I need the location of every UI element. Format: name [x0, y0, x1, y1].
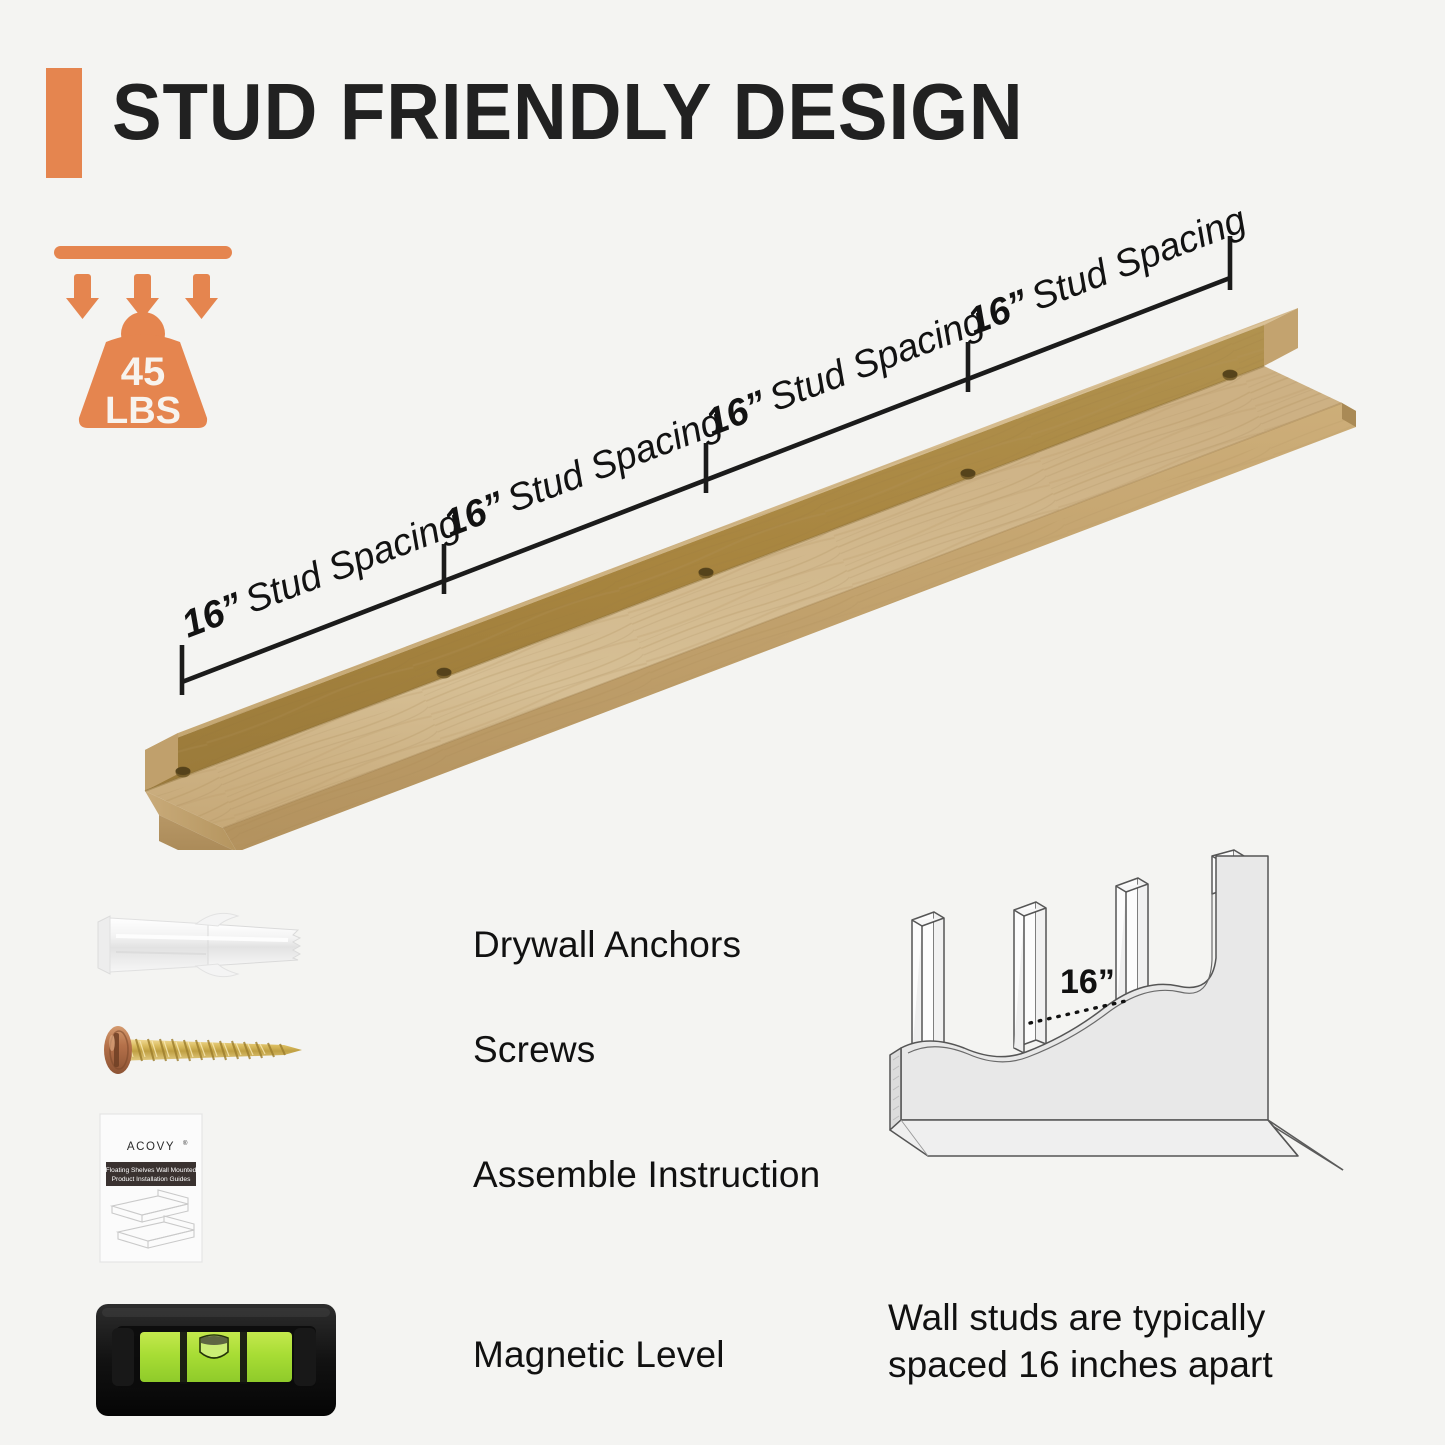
wall-plug-shape — [98, 913, 300, 976]
stud-spacing-measure: 16” — [1060, 963, 1115, 1001]
booklet-brand-mark: ® — [183, 1140, 188, 1147]
accessory-label: Assemble Instruction — [473, 1154, 820, 1196]
stud-spacing-text-1: Stud Spacing — [502, 401, 728, 521]
title-accent-bar — [46, 68, 82, 178]
level-marker-right — [240, 1330, 247, 1384]
shelf-illustration: 16” Stud Spacing 16” Stud Spacing 16” St… — [0, 190, 1445, 850]
stud-spacing-text-3: Stud Spacing — [1026, 199, 1252, 319]
accessory-label: Drywall Anchors — [473, 924, 741, 966]
level-marker-left — [180, 1330, 187, 1384]
stud-2 — [1014, 902, 1046, 1053]
stud-spacing-measure-3: 16” — [962, 282, 1034, 343]
stud-spacing-text-2: Stud Spacing — [764, 300, 990, 420]
booklet-brand: ACOVY — [127, 1141, 175, 1153]
screw-shape — [104, 1026, 302, 1074]
booklet-subtitle-line-1: Floating Shelves Wall Mounted — [106, 1167, 197, 1174]
wall-studs-cutaway-diagram: 16” — [868, 848, 1358, 1278]
infographic-canvas: STUD FRIENDLY DESIGN — [0, 0, 1445, 1445]
stud-spacing-measure-0: 16” — [176, 585, 248, 646]
caption-line-2: spaced 16 inches apart — [888, 1341, 1358, 1388]
stud-spacing-measure-2: 16” — [700, 383, 772, 444]
stud-spacing-text-0: Stud Spacing — [240, 502, 466, 622]
accessory-row-screws: Screws — [88, 985, 788, 1115]
stud-spacing-measure-1: 16” — [438, 484, 510, 545]
instruction-booklet-icon: ACOVY ® Floating Shelves Wall Mounted Pr… — [88, 1110, 338, 1240]
level-endcap-right — [294, 1328, 316, 1386]
level-endcap-left — [112, 1328, 134, 1386]
page-title: STUD FRIENDLY DESIGN — [112, 72, 1024, 152]
stud-diagram-caption: Wall studs are typically spaced 16 inche… — [888, 1294, 1358, 1389]
accessory-row-assemble-instruction: ACOVY ® Floating Shelves Wall Mounted Pr… — [88, 1110, 788, 1240]
booklet-subtitle-line-2: Product Installation Guides — [112, 1176, 192, 1183]
accessory-label: Screws — [473, 1029, 596, 1071]
caption-line-1: Wall studs are typically — [888, 1294, 1358, 1341]
bubble-level-icon — [88, 1290, 338, 1420]
accessory-label: Magnetic Level — [473, 1334, 725, 1376]
accessory-row-magnetic-level: Magnetic Level — [88, 1290, 788, 1420]
screw-icon — [88, 985, 338, 1115]
stud-1 — [912, 912, 944, 1061]
